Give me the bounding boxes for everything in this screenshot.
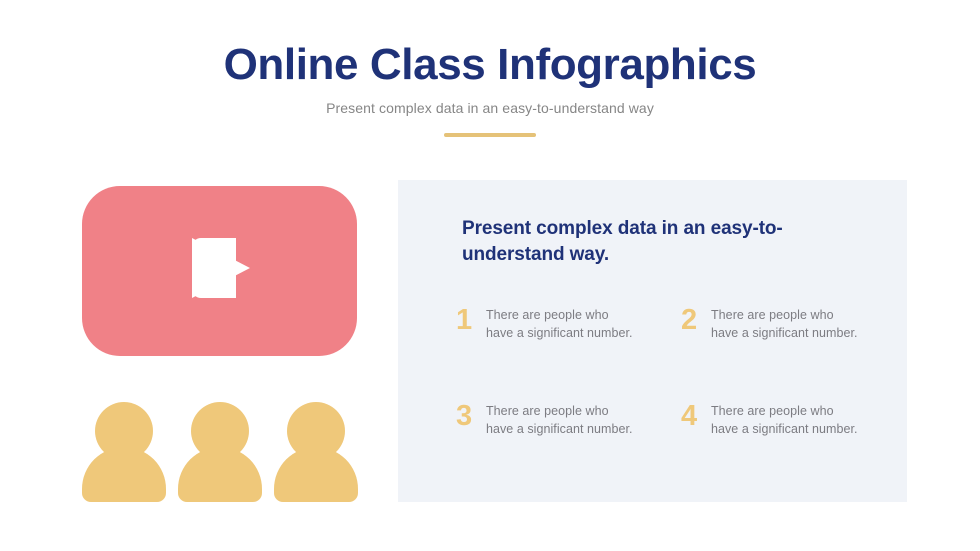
list-item-number: 3	[456, 401, 486, 431]
video-player-icon	[82, 186, 357, 356]
person-body-shape	[274, 447, 358, 502]
panel-heading: Present complex data in an easy-to-under…	[462, 216, 832, 268]
page-title: Online Class Infographics	[0, 38, 980, 92]
list-item-text: There are people who have a significant …	[486, 401, 636, 438]
list-item-number: 4	[681, 401, 711, 431]
list-item-text: There are people who have a significant …	[711, 305, 861, 342]
list-item-text: There are people who have a significant …	[486, 305, 636, 342]
illustration-group	[82, 186, 357, 502]
person-icon	[82, 402, 166, 502]
slide-header: Online Class Infographics Present comple…	[0, 38, 980, 137]
list-item-number: 2	[681, 305, 711, 335]
page-subtitle: Present complex data in an easy-to-under…	[0, 98, 980, 118]
people-group	[82, 402, 357, 502]
person-icon	[274, 402, 358, 502]
list-item-number: 1	[456, 305, 486, 335]
infographic-slide: Online Class Infographics Present comple…	[0, 0, 980, 551]
numbered-items-grid: 1 There are people who have a significan…	[456, 305, 886, 497]
play-icon-cap	[192, 238, 236, 298]
person-body-shape	[178, 447, 262, 502]
list-item: 1 There are people who have a significan…	[456, 305, 681, 401]
accent-divider	[444, 133, 536, 137]
person-body-shape	[82, 447, 166, 502]
list-item-text: There are people who have a significant …	[711, 401, 861, 438]
list-item: 3 There are people who have a significan…	[456, 401, 681, 497]
content-panel: Present complex data in an easy-to-under…	[398, 180, 907, 502]
person-icon	[178, 402, 262, 502]
list-item: 2 There are people who have a significan…	[681, 305, 886, 401]
list-item: 4 There are people who have a significan…	[681, 401, 886, 497]
